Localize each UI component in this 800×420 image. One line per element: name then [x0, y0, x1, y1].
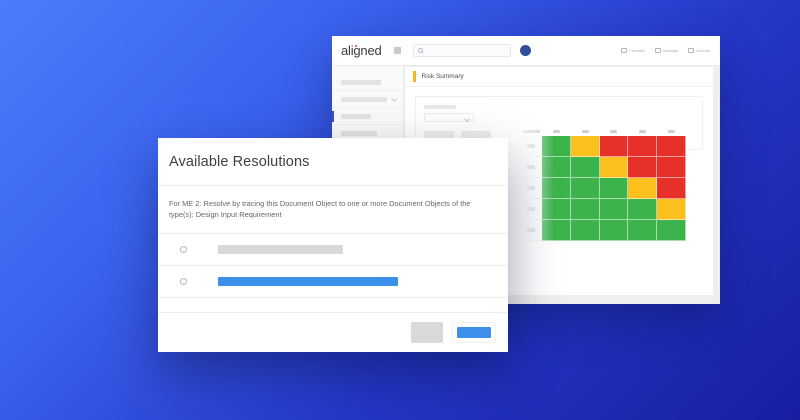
matrix-row-header-4 [520, 199, 542, 220]
matrix-cell-r2-c1[interactable] [542, 157, 571, 178]
matrix-cell-r1-c5[interactable] [657, 136, 686, 157]
matrix-cell-r5-c3[interactable] [600, 220, 629, 241]
panel-header: Risk Summary [405, 67, 713, 87]
nav-label-message: Message [663, 49, 678, 53]
search-icon [418, 48, 423, 53]
filter-label [424, 105, 456, 109]
matrix-row-header-3 [520, 178, 542, 199]
account-icon [688, 48, 694, 54]
matrix-body [520, 136, 686, 241]
matrix-cell-r4-c1[interactable] [542, 199, 571, 220]
matrix-row [520, 199, 686, 220]
screen: aligned Favorites Message Ac [0, 0, 800, 420]
app-topbar: aligned Favorites Message Ac [332, 36, 720, 66]
sidebar-item-label [341, 131, 377, 136]
matrix-row [520, 220, 686, 241]
avatar[interactable] [520, 45, 531, 56]
confirm-button-fill [457, 327, 491, 338]
matrix-cell-r1-c3[interactable] [600, 136, 629, 157]
matrix-cell-r3-c1[interactable] [542, 178, 571, 199]
cancel-button[interactable] [411, 322, 443, 343]
option-label [218, 245, 343, 254]
dialog-footer [158, 312, 508, 352]
app-logo[interactable]: aligned [341, 43, 382, 58]
sidebar-item-3[interactable] [332, 108, 403, 125]
matrix-row [520, 136, 686, 157]
radio-button[interactable] [180, 278, 187, 285]
nav-item-account[interactable]: Account [688, 48, 710, 54]
sidebar-item-label [341, 97, 387, 102]
sidebar-item-label [341, 80, 381, 85]
resolution-option-2[interactable] [158, 265, 508, 297]
matrix-column-headers [520, 127, 686, 136]
confirm-button[interactable] [452, 322, 496, 343]
option-label [218, 277, 398, 286]
radio-button[interactable] [180, 246, 187, 253]
matrix-cell-r4-c5[interactable] [657, 199, 686, 220]
matrix-cell-r3-c3[interactable] [600, 178, 629, 199]
matrix-cell-r2-c4[interactable] [628, 157, 657, 178]
chevron-down-icon[interactable] [391, 96, 397, 102]
sidebar-item-1[interactable] [332, 74, 403, 91]
matrix-cell-r1-c1[interactable] [542, 136, 571, 157]
star-icon [621, 48, 627, 54]
matrix-cell-r2-c3[interactable] [600, 157, 629, 178]
options-list-end [158, 297, 508, 298]
matrix-cell-r4-c3[interactable] [600, 199, 629, 220]
matrix-row-header-2 [520, 157, 542, 178]
dialog-title: Available Resolutions [169, 154, 309, 170]
filter-select[interactable] [424, 113, 474, 122]
nav-item-message[interactable]: Message [655, 48, 678, 54]
matrix-cell-r3-c4[interactable] [628, 178, 657, 199]
matrix-col-header-1 [542, 130, 571, 134]
grid-icon[interactable] [394, 47, 401, 54]
app-logo-text: aligned [341, 43, 382, 58]
search-input[interactable] [413, 44, 511, 57]
matrix-cell-r5-c5[interactable] [657, 220, 686, 241]
matrix-cell-r3-c5[interactable] [657, 178, 686, 199]
matrix-cell-r4-c4[interactable] [628, 199, 657, 220]
matrix-cell-r4-c2[interactable] [571, 199, 600, 220]
accent-bar [413, 71, 416, 82]
nav-label-account: Account [696, 49, 710, 53]
matrix-corner [520, 130, 542, 134]
page-title: Risk Summary [422, 73, 464, 80]
dialog-description: For ME 2: Resolve by tracing this Docume… [158, 186, 508, 233]
matrix-row [520, 178, 686, 199]
matrix-cell-r1-c4[interactable] [628, 136, 657, 157]
nav-item-favorites[interactable]: Favorites [621, 48, 645, 54]
matrix-row-header-5 [520, 220, 542, 241]
matrix-cell-r3-c2[interactable] [571, 178, 600, 199]
matrix-cell-r5-c1[interactable] [542, 220, 571, 241]
available-resolutions-dialog: Available Resolutions For ME 2: Resolve … [158, 138, 508, 352]
matrix-cell-r5-c4[interactable] [628, 220, 657, 241]
matrix-col-header-5 [657, 130, 686, 134]
matrix-col-header-4 [628, 130, 657, 134]
matrix-cell-r2-c5[interactable] [657, 157, 686, 178]
matrix-cell-r1-c2[interactable] [571, 136, 600, 157]
message-icon [655, 48, 661, 54]
nav-label-favorites: Favorites [629, 49, 645, 53]
matrix-cell-r2-c2[interactable] [571, 157, 600, 178]
risk-matrix-heatmap [520, 127, 686, 241]
sidebar-item-label [341, 114, 371, 119]
matrix-col-header-3 [600, 130, 629, 134]
matrix-col-header-2 [571, 130, 600, 134]
top-navigation: Favorites Message Account [621, 48, 710, 54]
sidebar-item-2[interactable] [332, 91, 403, 108]
matrix-row-header-1 [520, 136, 542, 157]
matrix-row [520, 157, 686, 178]
resolution-option-1[interactable] [158, 233, 508, 265]
matrix-cell-r5-c2[interactable] [571, 220, 600, 241]
dialog-header: Available Resolutions [158, 138, 508, 186]
logo-dot-icon [355, 45, 358, 48]
